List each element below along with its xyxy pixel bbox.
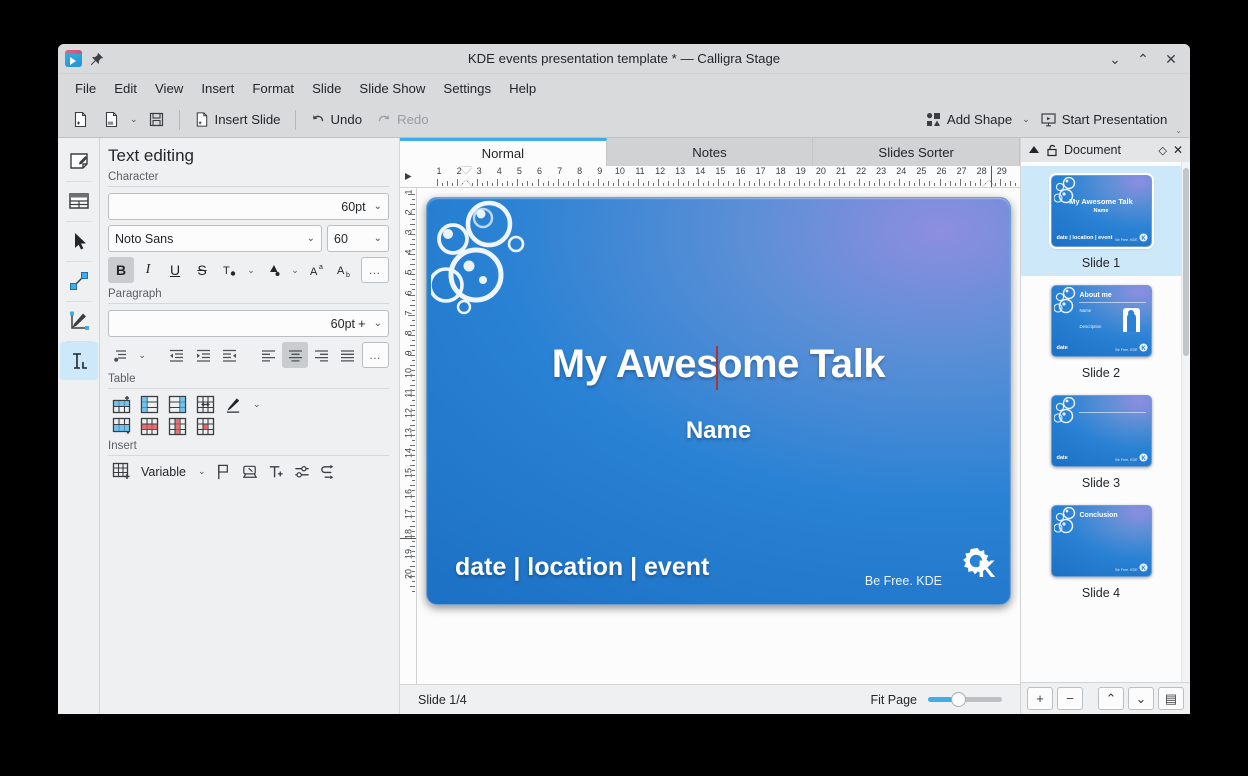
ruler-tick	[408, 435, 415, 436]
ruler-tick	[633, 183, 634, 187]
ruler-tick	[914, 183, 915, 187]
kde-logo: K	[958, 546, 998, 586]
ruler-tick	[408, 214, 415, 215]
ruler-tick	[457, 179, 458, 186]
tab-slides-sorter[interactable]: Slides Sorter	[813, 138, 1020, 166]
view-tabs: Normal Notes Slides Sorter	[400, 138, 1020, 166]
ruler-tick-label: 21	[834, 166, 848, 176]
ruler-tick	[442, 183, 443, 187]
table-border-pen-icon[interactable]	[224, 396, 242, 414]
document-dock: Document ◇ ✕	[1020, 138, 1190, 714]
menu-insert[interactable]: Insert	[192, 78, 243, 99]
tool-options-docker: Text editing Character 60pt ⌄ Noto Sans …	[100, 138, 400, 714]
text-color-button[interactable]: T	[216, 257, 242, 283]
main-toolbar: ⌄ Insert Slide Undo	[58, 102, 1190, 138]
highlight-color-dropdown[interactable]: ⌄	[287, 257, 303, 283]
ruler-tick	[502, 183, 503, 187]
ruler-tick	[744, 183, 745, 187]
dock-close-icon[interactable]: ✕	[1173, 143, 1183, 157]
bold-label: B	[116, 262, 126, 278]
ruler-tick	[578, 179, 579, 186]
thumbnail-tagline: Be Free. KDE	[1115, 458, 1137, 462]
superscript-icon: A a	[309, 262, 326, 279]
menu-view[interactable]: View	[146, 78, 192, 99]
ruler-tick	[678, 179, 679, 186]
ruler-tick	[412, 259, 416, 260]
slide-layout-tool[interactable]	[60, 182, 98, 220]
ruler-tick	[408, 274, 415, 275]
align-right-button[interactable]	[309, 342, 334, 368]
ruler-tick	[814, 183, 815, 187]
ruler-tick	[588, 181, 589, 186]
ruler-tick-label: 19	[404, 545, 414, 562]
ruler-tick	[563, 183, 564, 187]
cursor-arrow-icon	[67, 229, 91, 253]
list-style-dropdown[interactable]: ⌄	[134, 342, 150, 368]
ruler-tick-label: 13	[673, 166, 687, 176]
thumbnail-footer: date	[1057, 455, 1068, 461]
new-file-icon	[72, 111, 89, 128]
ruler-tick-label: 7	[553, 166, 567, 176]
docker-title: Text editing	[108, 146, 389, 166]
bold-button[interactable]: B	[108, 257, 134, 283]
decrease-indent-button[interactable]	[164, 342, 189, 368]
maximize-button[interactable]: ⌃	[1130, 47, 1156, 71]
ruler-tick-label: 16	[734, 166, 748, 176]
start-presentation-button[interactable]: Start Presentation	[1034, 106, 1174, 134]
text-color-dropdown[interactable]: ⌄	[243, 257, 259, 283]
first-line-indent-marker[interactable]	[460, 167, 472, 174]
font-size-combo[interactable]: 60 ⌄	[327, 225, 389, 252]
chevron-down-icon: ⌄	[307, 233, 315, 244]
font-size-value: 60	[334, 232, 348, 246]
insert-row-above-icon[interactable]	[112, 395, 131, 414]
zoom-slider-handle[interactable]	[951, 692, 966, 707]
open-file-icon	[103, 111, 120, 128]
ruler-tick	[408, 516, 415, 517]
text-tool[interactable]	[60, 342, 98, 380]
shape-edit-tool[interactable]	[60, 142, 98, 180]
ruler-tick	[412, 521, 416, 522]
collapse-icon[interactable]	[1028, 144, 1040, 156]
ruler-tick-label: 28	[975, 166, 989, 176]
ruler-tick	[1015, 183, 1016, 187]
ruler-tick	[412, 239, 416, 240]
ruler-tick	[854, 183, 855, 187]
ruler-tick	[447, 181, 448, 186]
ruler-tick	[874, 183, 875, 187]
kde-logo: K	[1139, 563, 1148, 572]
ruler-tick	[412, 219, 416, 220]
paragraph-style-value: 60pt	[331, 317, 355, 331]
text-color-icon: T	[221, 262, 238, 279]
insert-group-label: Insert	[108, 440, 389, 452]
ruler-tick	[1010, 181, 1011, 186]
ruler-tick-label: 14	[693, 166, 707, 176]
add-slide-button[interactable]: +	[1027, 687, 1053, 710]
ruler-tick	[437, 179, 438, 186]
close-button[interactable]: ✕	[1158, 47, 1184, 71]
change-text-direction-button[interactable]	[217, 342, 242, 368]
connection-line-icon	[67, 269, 91, 293]
ruler-tick	[408, 335, 415, 336]
svg-text:T: T	[223, 265, 230, 277]
right-indent-marker[interactable]	[983, 180, 995, 187]
left-indent-marker[interactable]	[460, 180, 472, 187]
divider	[108, 388, 389, 389]
delete-row-icon[interactable]	[140, 417, 159, 436]
ruler-tick	[739, 179, 740, 186]
insert-slide-icon	[194, 111, 210, 128]
divider	[108, 186, 389, 187]
highlight-color-button[interactable]	[260, 257, 286, 283]
dock-float-icon[interactable]: ◇	[1158, 144, 1166, 157]
paragraph-style-combo[interactable]: 60pt + ⌄	[108, 310, 389, 337]
slide-thumbnail-3[interactable]: date Be Free. KDE K Slide 3	[1021, 386, 1181, 496]
slide-layout-icon	[67, 189, 91, 213]
path-edit-tool[interactable]	[60, 302, 98, 340]
insert-text-icon[interactable]	[267, 463, 285, 481]
ruler-tick	[829, 181, 830, 186]
svg-text:A: A	[310, 266, 318, 278]
vertical-ruler[interactable]: 1234567891011121314151617181920	[400, 188, 417, 684]
slide-footer[interactable]: date | location | event	[455, 553, 709, 582]
slide-title[interactable]: My Awesome Talk	[427, 342, 1010, 387]
table-buttons-row-1: ⌄	[108, 395, 389, 414]
window-title: KDE events presentation template * — Cal…	[58, 51, 1190, 66]
chevron-down-icon: ⌄	[374, 318, 382, 329]
ruler-tick	[668, 181, 669, 186]
thumbnail-rule	[1079, 412, 1146, 413]
select-tool[interactable]	[60, 222, 98, 260]
ruler-tick	[889, 181, 890, 186]
ruler-tick	[774, 183, 775, 187]
ruler-tick	[754, 183, 755, 187]
ruler-tick	[558, 179, 559, 186]
minimize-button[interactable]: ⌄	[1102, 47, 1128, 71]
ruler-tick	[723, 183, 724, 187]
font-family-combo[interactable]: Noto Sans ⌄	[108, 225, 322, 252]
slide-thumbnail-2[interactable]: About me Name Description date Be Free. …	[1021, 276, 1181, 386]
ruler-tick	[929, 181, 930, 186]
svg-text:K: K	[1141, 566, 1146, 572]
move-slide-up-button[interactable]: ⌃	[1098, 687, 1124, 710]
divider	[108, 303, 389, 304]
ruler-tick-label: 24	[894, 166, 908, 176]
ruler-tick	[653, 183, 654, 187]
ruler-tick	[980, 179, 981, 186]
ruler-tick	[408, 496, 415, 497]
ruler-tick	[950, 181, 951, 186]
insert-row-below-icon[interactable]	[112, 417, 131, 436]
menu-settings[interactable]: Settings	[434, 78, 500, 99]
tool-rail	[58, 138, 100, 714]
ruler-tick	[673, 183, 674, 187]
italic-button[interactable]: I	[135, 257, 161, 283]
insert-link-icon[interactable]	[319, 463, 337, 481]
status-bar: Slide 1/4 Fit Page	[400, 684, 1020, 714]
menu-file[interactable]: File	[66, 78, 105, 99]
ruler-tick-label: 10	[404, 364, 414, 381]
open-recent-dropdown[interactable]: ⌄	[128, 114, 140, 125]
insert-table-icon[interactable]	[112, 462, 131, 481]
thumbnail-heading: Conclusion	[1080, 512, 1118, 519]
thumbnail-tagline: Be Free. KDE	[1115, 238, 1137, 242]
ruler-tick	[698, 179, 699, 186]
ruler-tick	[408, 234, 415, 235]
kde-logo: K	[1139, 453, 1148, 462]
shape-edit-icon	[67, 149, 91, 173]
insert-column-right-icon[interactable]	[168, 395, 187, 414]
align-justify-button[interactable]	[335, 342, 360, 368]
paragraph-more-button[interactable]: …	[362, 342, 389, 368]
svg-text:A: A	[337, 265, 345, 277]
ruler-tick	[512, 183, 513, 187]
menu-help[interactable]: Help	[500, 78, 545, 99]
ruler-tick	[643, 183, 644, 187]
dock-footer: + − ⌃ ⌄ ▤	[1021, 682, 1190, 714]
ruler-tick	[733, 183, 734, 187]
ruler-tick	[497, 179, 498, 186]
ruler-tick	[412, 320, 416, 321]
ruler-tick	[412, 360, 416, 361]
remove-slide-button[interactable]: −	[1057, 687, 1083, 710]
ruler-tick	[894, 183, 895, 187]
lock-icon[interactable]	[1046, 144, 1058, 157]
ruler-tick	[839, 179, 840, 186]
thumbnail-line1: Name	[1080, 308, 1092, 313]
align-left-button[interactable]	[256, 342, 281, 368]
insert-footnote-icon[interactable]	[241, 463, 259, 481]
title-bar: KDE events presentation template * — Cal…	[58, 44, 1190, 74]
ruler-tick	[487, 181, 488, 186]
ruler-tick	[899, 179, 900, 186]
ruler-tick	[749, 181, 750, 186]
ruler-tick	[713, 183, 714, 187]
increase-indent-icon	[195, 347, 212, 364]
underline-button[interactable]: U	[162, 257, 188, 283]
text-direction-icon	[221, 347, 238, 364]
underline-label: U	[170, 262, 180, 278]
zoom-slider[interactable]	[928, 697, 1002, 702]
ruler-tick	[412, 581, 416, 582]
ruler-tick	[693, 183, 694, 187]
ruler-tick	[864, 183, 865, 187]
ruler-tick	[834, 183, 835, 187]
ruler-tick-label: 20	[404, 565, 414, 582]
list-style-button[interactable]	[108, 342, 133, 368]
zoom-mode-label[interactable]: Fit Page	[870, 693, 917, 707]
ruler-tick-label: 12	[404, 405, 414, 422]
start-presentation-label: Start Presentation	[1062, 112, 1168, 127]
ruler-tick-label: 9	[404, 344, 414, 361]
ruler-tick	[412, 460, 416, 461]
thumbnail-line2: Description	[1080, 324, 1102, 329]
save-document-button[interactable]	[142, 106, 171, 134]
horizontal-ruler-track: 1234567891011121314151617181920212223242…	[417, 166, 1020, 187]
plus-icon: +	[358, 316, 366, 331]
ruler-tick-label: 12	[653, 166, 667, 176]
ruler-tick-label: 7	[404, 304, 414, 321]
tab-normal[interactable]: Normal	[400, 138, 607, 166]
slide-notes-button[interactable]: ▤	[1158, 687, 1184, 710]
table-buttons-row-2	[108, 417, 389, 436]
undo-button[interactable]: Undo	[304, 106, 369, 134]
font-family-value: Noto Sans	[115, 232, 173, 246]
menu-bar: File Edit View Insert Format Slide Slide…	[58, 74, 1190, 102]
tab-notes[interactable]: Notes	[607, 138, 814, 166]
text-caret	[716, 346, 718, 390]
thumbnail-tagline: Be Free. KDE	[1115, 348, 1137, 352]
ruler-tick-label: 11	[633, 166, 647, 176]
insert-bookmark-icon[interactable]	[215, 463, 233, 481]
split-cells-icon[interactable]	[196, 417, 215, 436]
insert-variable-label[interactable]: Variable	[139, 465, 188, 479]
ruler-tick	[809, 181, 810, 186]
ruler-tick-label: 29	[995, 166, 1009, 176]
ruler-tick	[799, 179, 800, 186]
ruler-tick	[824, 183, 825, 187]
align-center-button[interactable]	[282, 342, 307, 368]
ruler-tick	[759, 179, 760, 186]
thumbnail-rule	[1079, 302, 1146, 303]
insert-variable-dropdown[interactable]: ⌄	[196, 466, 208, 477]
character-more-button[interactable]: …	[361, 257, 389, 283]
path-edit-icon	[67, 309, 91, 333]
menu-slide[interactable]: Slide	[303, 78, 350, 99]
start-presentation-dropdown[interactable]: ⌄	[1175, 126, 1182, 135]
thumbnail-title: My Awesome Talk	[1052, 197, 1151, 206]
menu-edit[interactable]: Edit	[105, 78, 146, 99]
ruler-tick	[598, 179, 599, 186]
svg-text:a: a	[319, 264, 323, 271]
ruler-tick	[688, 181, 689, 186]
merge-cells-icon[interactable]	[196, 395, 215, 414]
thumbnail-subtitle: Name	[1052, 208, 1151, 214]
ruler-tick	[789, 181, 790, 186]
ruler-tick	[573, 183, 574, 187]
superscript-button[interactable]: A a	[304, 257, 330, 283]
open-document-button[interactable]	[97, 106, 126, 134]
character-style-combo[interactable]: 60pt ⌄	[108, 193, 389, 220]
italic-label: I	[146, 262, 151, 278]
ruler-tick	[769, 181, 770, 186]
undo-icon	[310, 112, 326, 128]
ruler-tick-label: 17	[404, 505, 414, 522]
subscript-icon: A b	[336, 262, 353, 279]
ruler-tick-label: 26	[935, 166, 949, 176]
ruler-tick-label: 5	[404, 264, 414, 281]
toolbar-separator-2	[295, 110, 296, 130]
ruler-tick	[408, 556, 415, 557]
ruler-tick	[408, 576, 415, 577]
slide-thumbnail-label-1: Slide 1	[1082, 256, 1120, 270]
ruler-tick	[410, 586, 415, 587]
slide-canvas[interactable]: My Awesome Talk Name date | location | e…	[417, 188, 1020, 684]
ruler-tick-label: 18	[774, 166, 788, 176]
slide-thumbnail-list[interactable]: My Awesome Talk Name date | location | e…	[1021, 162, 1190, 682]
slide-thumbnail-1[interactable]: My Awesome Talk Name date | location | e…	[1021, 166, 1181, 276]
ruler-tick	[482, 183, 483, 187]
add-shape-dropdown[interactable]: ⌄	[1020, 114, 1032, 125]
insert-buttons-row: Variable ⌄	[108, 462, 389, 481]
align-justify-icon	[339, 347, 356, 364]
align-right-icon	[313, 347, 330, 364]
svg-text:K: K	[1141, 456, 1146, 462]
workspace: Text editing Character 60pt ⌄ Noto Sans …	[58, 138, 1190, 714]
thumbnail-photo-placeholder	[1123, 308, 1140, 332]
pin-icon[interactable]	[90, 52, 104, 66]
ruler-tick	[412, 561, 416, 562]
chevron-down-icon: ⌄	[374, 233, 382, 244]
new-document-button[interactable]	[66, 106, 95, 134]
horizontal-ruler[interactable]: 1234567891011121314151617181920212223242…	[400, 166, 1020, 188]
decrease-indent-icon	[168, 347, 185, 364]
ruler-tick	[412, 300, 416, 301]
menu-format[interactable]: Format	[243, 78, 303, 99]
character-group-label: Character	[108, 171, 389, 183]
insert-column-left-icon[interactable]	[140, 395, 159, 414]
slide-subtitle[interactable]: Name	[427, 417, 1010, 445]
ruler-tick	[412, 591, 416, 592]
subscript-button[interactable]: A b	[331, 257, 357, 283]
ruler-tick	[648, 181, 649, 186]
ruler-tick	[1005, 183, 1006, 187]
increase-indent-button[interactable]	[190, 342, 215, 368]
ruler-tick	[844, 183, 845, 187]
ruler-tick	[538, 179, 539, 186]
menu-slide-show[interactable]: Slide Show	[350, 78, 434, 99]
slide-title-text: My Awesome Talk	[552, 342, 885, 386]
ruler-tick	[945, 183, 946, 187]
ruler-tick-label: 9	[593, 166, 607, 176]
slide-counter: Slide 1/4	[418, 693, 467, 707]
svg-text:b: b	[346, 272, 350, 279]
dock-scrollbar-thumb[interactable]	[1183, 168, 1189, 356]
insert-settings-icon[interactable]	[293, 463, 311, 481]
delete-column-icon[interactable]	[168, 417, 187, 436]
ruler-tick-label: 8	[404, 324, 414, 341]
slide-thumbnail-image-2: About me Name Description date Be Free. …	[1051, 285, 1152, 357]
calligra-stage-icon	[65, 50, 82, 67]
ruler-tick-label: 4	[492, 166, 506, 176]
slide-editor[interactable]: My Awesome Talk Name date | location | e…	[426, 197, 1011, 605]
ruler-tick	[593, 183, 594, 187]
slide-thumbnail-image-4: Conclusion Be Free. KDE K	[1051, 505, 1152, 577]
bullet-list-icon	[112, 347, 129, 364]
ruler-tick	[408, 395, 415, 396]
ruler-tick	[940, 179, 941, 186]
ruler-tick	[412, 480, 416, 481]
ruler-tick	[884, 183, 885, 187]
insert-slide-button[interactable]: Insert Slide	[188, 106, 287, 134]
slide-thumbnail-4[interactable]: Conclusion Be Free. KDE K Slide 4	[1021, 496, 1181, 606]
ruler-tick	[553, 183, 554, 187]
ruler-tick	[638, 179, 639, 186]
svg-text:K: K	[1141, 236, 1146, 242]
table-border-dropdown[interactable]: ⌄	[251, 399, 263, 410]
ruler-cursor-marker	[400, 538, 416, 539]
move-slide-down-button[interactable]: ⌄	[1128, 687, 1154, 710]
dock-scrollbar[interactable]	[1181, 162, 1190, 682]
ruler-tick	[412, 420, 416, 421]
ruler-tick	[623, 183, 624, 187]
strikethrough-label: S	[197, 262, 206, 278]
strikethrough-button[interactable]: S	[189, 257, 215, 283]
connection-tool[interactable]	[60, 262, 98, 300]
add-shape-button[interactable]: Add Shape	[919, 106, 1018, 134]
ruler-tick	[924, 183, 925, 187]
